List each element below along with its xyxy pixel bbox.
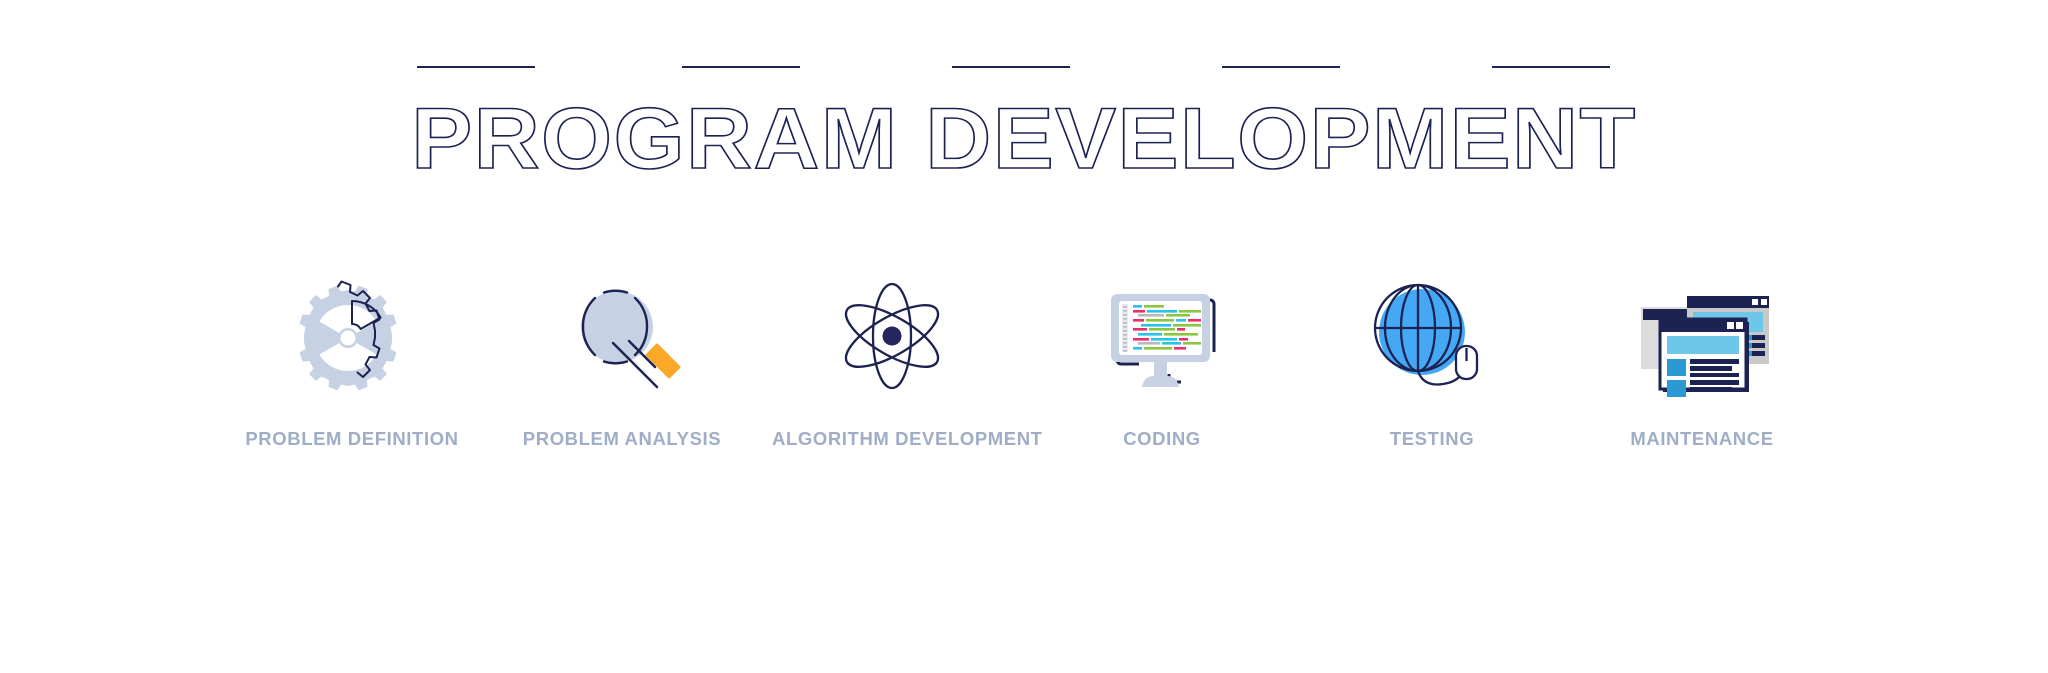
connector-line-1 [417, 66, 535, 68]
browser-windows-icon [1582, 276, 1822, 396]
atom-icon [772, 276, 1012, 396]
step-coding[interactable]: CODING [1042, 276, 1282, 476]
step-label: ALGORITHM DEVELOPMENT [772, 428, 1012, 450]
connector-line-2 [682, 66, 800, 68]
infographic-canvas: PROGRAM DEVELOPMENT [0, 0, 2048, 673]
connector-line-5 [1492, 66, 1610, 68]
connector-line-3 [952, 66, 1070, 68]
step-problem-analysis[interactable]: PROBLEM ANALYSIS [502, 276, 742, 476]
steps-row: PROBLEM DEFINITION [0, 276, 2048, 476]
gear-icon [232, 276, 472, 396]
step-testing[interactable]: TESTING [1312, 276, 1552, 476]
page-title: PROGRAM DEVELOPMENT [411, 96, 1636, 182]
step-label: MAINTENANCE [1582, 428, 1822, 450]
step-maintenance[interactable]: MAINTENANCE [1582, 276, 1822, 476]
step-problem-definition[interactable]: PROBLEM DEFINITION [232, 276, 472, 476]
step-label: TESTING [1312, 428, 1552, 450]
connector-line-4 [1222, 66, 1340, 68]
magnifier-icon [502, 276, 742, 396]
step-label: PROBLEM DEFINITION [232, 428, 472, 450]
step-label: PROBLEM ANALYSIS [502, 428, 742, 450]
title-container: PROGRAM DEVELOPMENT [0, 96, 2048, 182]
monitor-code-icon [1042, 276, 1282, 396]
step-label: CODING [1042, 428, 1282, 450]
globe-mouse-icon [1312, 276, 1552, 396]
step-algorithm-development[interactable]: ALGORITHM DEVELOPMENT [772, 276, 1012, 476]
